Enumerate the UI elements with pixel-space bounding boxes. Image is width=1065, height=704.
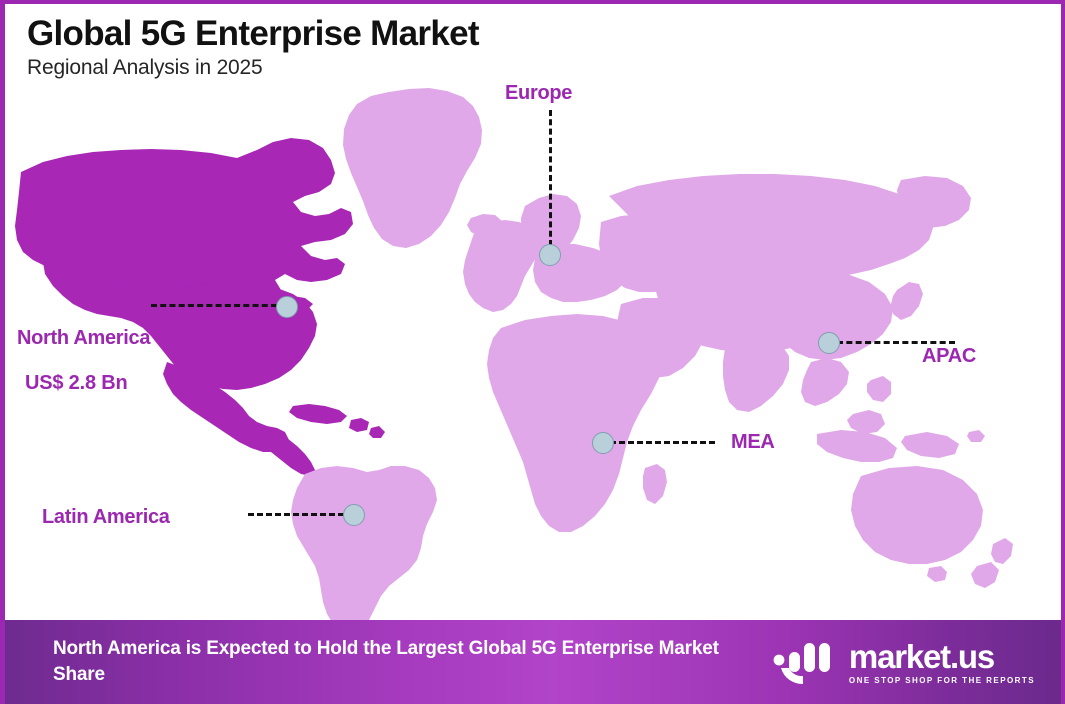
header: Global 5G Enterprise Market Regional Ana… bbox=[27, 14, 479, 80]
region-asia-india bbox=[723, 334, 789, 412]
page-title: Global 5G Enterprise Market bbox=[27, 14, 479, 53]
map-marker-latin-america[interactable] bbox=[343, 504, 365, 526]
region-caribbean-islands bbox=[349, 418, 369, 432]
leader-line-mea bbox=[610, 441, 715, 444]
logo-wordmark: market.us bbox=[849, 640, 1035, 673]
infographic-root: Global 5G Enterprise Market Regional Ana… bbox=[0, 0, 1065, 704]
region-asia-japan bbox=[891, 282, 923, 320]
region-label-latin-america[interactable]: Latin America bbox=[42, 506, 170, 529]
map-marker-europe[interactable] bbox=[539, 244, 561, 266]
bottom-banner: North America is Expected to Hold the La… bbox=[5, 620, 1061, 704]
leader-line-north-america bbox=[151, 304, 277, 307]
region-label-apac[interactable]: APAC bbox=[922, 345, 976, 368]
region-north-america-caribbean bbox=[289, 404, 347, 424]
page-subtitle: Regional Analysis in 2025 bbox=[27, 56, 479, 80]
region-south-america bbox=[291, 466, 437, 624]
market-us-logo[interactable]: market.us ONE STOP SHOP FOR THE REPORTS bbox=[773, 638, 1035, 686]
region-asia-borneo bbox=[847, 410, 885, 434]
region-caribbean-islands-2 bbox=[369, 426, 385, 438]
region-africa bbox=[487, 314, 663, 532]
region-label-europe[interactable]: Europe bbox=[505, 82, 572, 105]
logo-bars-icon bbox=[773, 638, 839, 686]
region-pacific-islands bbox=[967, 430, 985, 442]
leader-line-europe bbox=[549, 110, 552, 246]
region-africa-madagascar bbox=[643, 464, 667, 504]
region-asia-philippines bbox=[867, 376, 891, 402]
map-landmasses bbox=[15, 88, 1013, 624]
logo-text: market.us ONE STOP SHOP FOR THE REPORTS bbox=[849, 640, 1035, 685]
world-map-svg bbox=[5, 76, 1061, 624]
map-marker-north-america[interactable] bbox=[276, 296, 298, 318]
region-label-north-america[interactable]: North America bbox=[17, 327, 150, 350]
region-new-zealand-south bbox=[971, 562, 999, 588]
leader-line-apac bbox=[837, 341, 955, 344]
region-label-mea[interactable]: MEA bbox=[731, 431, 775, 454]
region-asia-indonesia bbox=[817, 430, 897, 462]
region-greenland bbox=[343, 88, 482, 248]
leader-line-latin-america bbox=[248, 513, 344, 516]
region-australia bbox=[851, 466, 983, 564]
region-new-zealand bbox=[991, 538, 1013, 564]
world-map bbox=[5, 76, 1061, 624]
region-australia-tasmania bbox=[927, 566, 947, 582]
region-asia-southeast bbox=[801, 358, 849, 406]
region-value-north-america: US$ 2.8 Bn bbox=[25, 372, 127, 395]
map-marker-mea[interactable] bbox=[592, 432, 614, 454]
banner-headline: North America is Expected to Hold the La… bbox=[53, 636, 753, 687]
region-asia-newguinea bbox=[901, 432, 959, 458]
map-marker-apac[interactable] bbox=[818, 332, 840, 354]
logo-tagline: ONE STOP SHOP FOR THE REPORTS bbox=[849, 676, 1035, 685]
